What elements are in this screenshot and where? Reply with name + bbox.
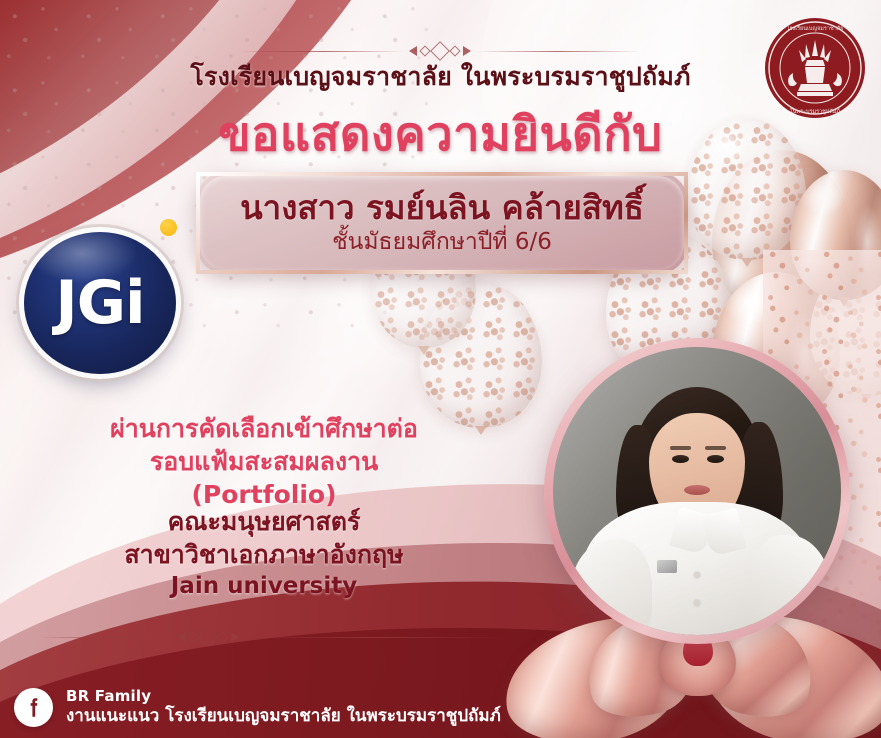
student-name-banner: นางสาว รมย์นลิน คล้ายสิทธิ์ ชั้นมัธยมศึก…	[196, 172, 688, 274]
footer-bar: BR Family งานแนะแนว โรงเรียนเบญจมราชาลัย…	[0, 676, 881, 738]
university-name: Jain university	[74, 571, 454, 601]
footer-page-name: BR Family	[66, 687, 501, 705]
program-block: คณะมนุษยศาสตร์ สาขาวิชาเอกภาษาอังกฤษ Jai…	[74, 505, 454, 601]
student-class: ชั้นมัธยมศึกษาปีที่ 6/6	[332, 229, 552, 257]
footer-text: BR Family งานแนะแนว โรงเรียนเบญจมราชาลัย…	[66, 687, 501, 726]
student-name: นางสาว รมย์นลิน คล้ายสิทธิ์	[240, 190, 644, 227]
faculty-name: คณะมนุษยศาสตร์	[74, 505, 454, 538]
achievement-line-1: ผ่านการคัดเลือกเข้าศึกษาต่อ	[74, 412, 454, 445]
achievement-block: ผ่านการคัดเลือกเข้าศึกษาต่อ รอบแฟ้มสะสมผ…	[74, 412, 454, 511]
congratulations-headline: ขอแสดงความยินดีกับ	[0, 96, 881, 171]
congratulations-poster: โรงเรียนเบญจมราชาลัย ในพระบรมราชูปถัมภ์ …	[0, 0, 881, 738]
achievement-line-2: รอบแฟ้มสะสมผลงาน (Portfolio)	[74, 445, 454, 511]
text-content: โรงเรียนเบญจมราชาลัย ในพระบรมราชูปถัมภ์ …	[0, 0, 881, 738]
footer-department: งานแนะแนว โรงเรียนเบญจมราชาลัย ในพระบรมร…	[66, 706, 501, 727]
major-name: สาขาวิชาเอกภาษาอังกฤษ	[74, 538, 454, 571]
facebook-icon[interactable]	[14, 688, 53, 727]
school-name-line: โรงเรียนเบญจมราชาลัย ในพระบรมราชูปถัมภ์	[0, 57, 881, 97]
